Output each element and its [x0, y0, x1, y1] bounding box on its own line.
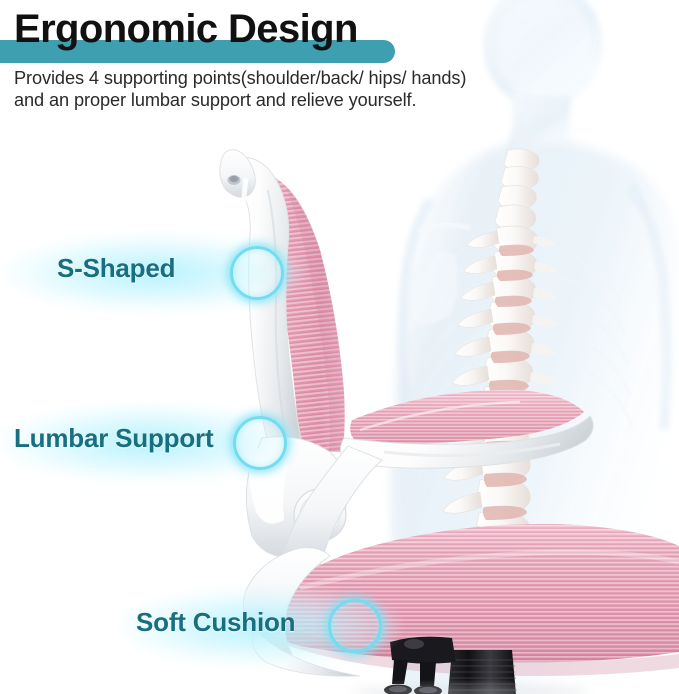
- callout-s-shaped: S-Shaped: [0, 228, 330, 320]
- subtitle-line-1: Provides 4 supporting points(shoulder/ba…: [14, 67, 534, 89]
- callout-ring-s-shaped: [230, 246, 284, 300]
- subtitle: Provides 4 supporting points(shoulder/ba…: [14, 67, 534, 111]
- subtitle-line-2: and an proper lumbar support and relieve…: [14, 89, 534, 111]
- callout-ring-soft-cushion: [328, 599, 382, 653]
- infographic-canvas: Ergonomic Design Provides 4 supporting p…: [0, 0, 679, 694]
- callout-ring-lumbar-support: [233, 416, 287, 470]
- callout-label-soft-cushion: Soft Cushion: [136, 607, 295, 638]
- callout-label-lumbar-support: Lumbar Support: [14, 423, 213, 454]
- callout-lumbar-support: Lumbar Support: [0, 398, 320, 490]
- callout-label-s-shaped: S-Shaped: [57, 253, 175, 284]
- callout-soft-cushion: Soft Cushion: [120, 582, 410, 674]
- page-title: Ergonomic Design: [14, 9, 358, 49]
